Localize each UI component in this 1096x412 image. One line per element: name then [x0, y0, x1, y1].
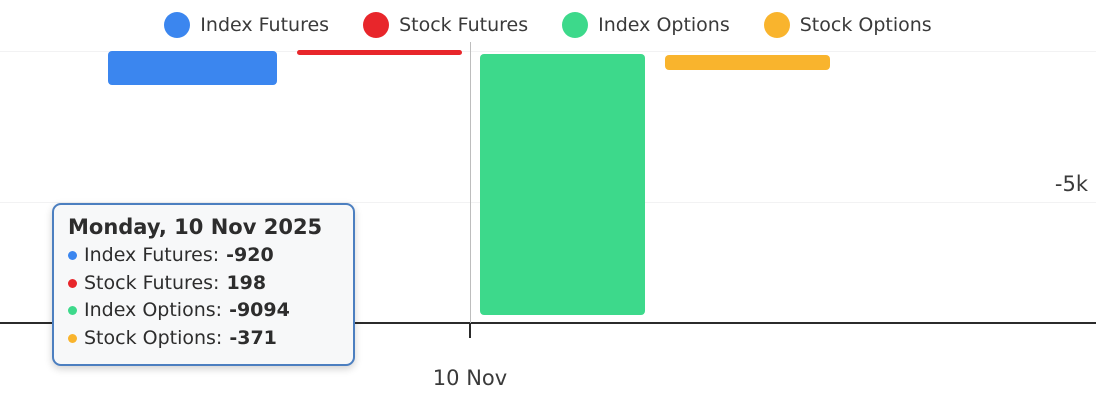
legend-item-stock-options[interactable]: Stock Options [764, 12, 932, 38]
tooltip-title: Monday, 10 Nov 2025 [68, 215, 339, 239]
y-axis-tick-label: -5k [968, 172, 1088, 196]
tooltip-row-label: Stock Futures: [84, 270, 219, 298]
x-axis-tick-mark [469, 324, 471, 338]
legend-item-index-options[interactable]: Index Options [562, 12, 730, 38]
tooltip-color-dot-icon [68, 334, 77, 343]
tooltip-row-label: Stock Options: [84, 325, 222, 353]
legend-color-dot-icon [764, 12, 790, 38]
legend-item-stock-futures[interactable]: Stock Futures [363, 12, 528, 38]
bar-index-futures[interactable] [108, 51, 277, 85]
tooltip-row-label: Index Futures: [84, 242, 219, 270]
tooltip-row-value: 198 [226, 270, 266, 298]
tooltip-row-value: -920 [226, 242, 274, 270]
tooltip-row: Stock Options: -371 [68, 325, 339, 353]
tooltip-row: Index Options: -9094 [68, 297, 339, 325]
tooltip-color-dot-icon [68, 279, 77, 288]
hover-crosshair-line [470, 42, 471, 323]
x-axis-tick-label: 10 Nov [390, 366, 550, 390]
tooltip-color-dot-icon [68, 306, 77, 315]
legend-item-label: Index Options [598, 14, 730, 36]
bar-index-options[interactable] [480, 54, 645, 315]
bar-stock-futures[interactable] [297, 50, 462, 55]
bar-stock-options[interactable] [665, 55, 830, 70]
legend-color-dot-icon [164, 12, 190, 38]
chart-legend: Index Futures Stock Futures Index Option… [0, 0, 1096, 50]
tooltip-row-value: -9094 [229, 297, 290, 325]
tooltip-row: Stock Futures: 198 [68, 270, 339, 298]
tooltip-row-value: -371 [229, 325, 277, 353]
tooltip-color-dot-icon [68, 251, 77, 260]
legend-item-label: Stock Futures [399, 14, 528, 36]
legend-color-dot-icon [363, 12, 389, 38]
tooltip-row: Index Futures: -920 [68, 242, 339, 270]
tooltip-row-label: Index Options: [84, 297, 222, 325]
chart-tooltip: Monday, 10 Nov 2025 Index Futures: -920 … [52, 203, 355, 366]
legend-item-label: Index Futures [200, 14, 329, 36]
legend-color-dot-icon [562, 12, 588, 38]
legend-item-label: Stock Options [800, 14, 932, 36]
legend-item-index-futures[interactable]: Index Futures [164, 12, 329, 38]
